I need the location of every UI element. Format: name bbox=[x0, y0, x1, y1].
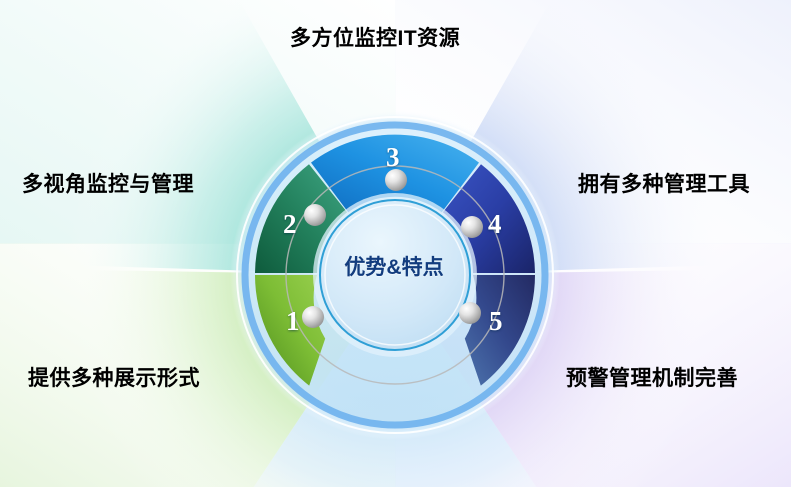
infographic-canvas: 1 2 3 4 5 优势&特点 多方位监控IT资源 多视角监控与管理 提供多种展… bbox=[0, 0, 791, 487]
sphere-marker-4[interactable] bbox=[461, 216, 483, 238]
label-right-bottom: 预警管理机制完善 bbox=[566, 362, 738, 392]
label-left-bottom: 提供多种展示形式 bbox=[28, 362, 200, 392]
label-top: 多方位监控IT资源 bbox=[290, 22, 460, 52]
sphere-marker-1[interactable] bbox=[302, 306, 324, 328]
sphere-marker-5[interactable] bbox=[459, 302, 481, 324]
label-left-top: 多视角监控与管理 bbox=[22, 168, 194, 198]
sphere-marker-2[interactable] bbox=[304, 204, 326, 226]
label-right-top: 拥有多种管理工具 bbox=[578, 168, 750, 198]
center-title: 优势&特点 bbox=[339, 251, 449, 281]
sphere-marker-3[interactable] bbox=[385, 169, 407, 191]
wheel-diagram bbox=[0, 0, 791, 487]
